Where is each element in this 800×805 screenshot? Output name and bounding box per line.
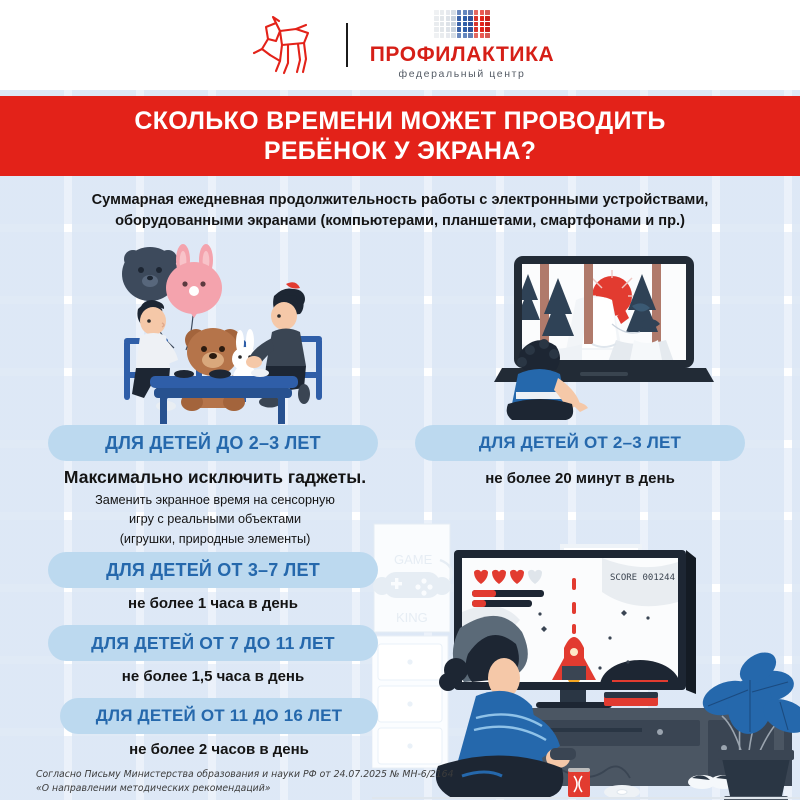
source-footnote: Согласно Письму Министерства образования… (36, 768, 456, 796)
age-banner-from-11-16[interactable]: ДЛЯ ДЕТЕЙ ОТ 11 ДО 16 ЛЕТ (60, 698, 378, 734)
poster-top-label: GAME (394, 552, 433, 567)
brand-pixel-grid-icon (434, 10, 490, 37)
laser-shots (572, 578, 576, 634)
page-title-line2: РЕБЁНОК У ЭКРАНА? (264, 136, 536, 167)
note-sub-line1: Заменить экранное время на сенсорную (20, 492, 410, 510)
age-banner-from-7-11[interactable]: ДЛЯ ДЕТЕЙ ОТ 7 ДО 11 ЛЕТ (48, 625, 378, 661)
age-note-from-11-16: не более 2 часов в день (60, 741, 378, 758)
cd-disc (604, 785, 640, 799)
age-note-from-3-7: не более 1 часа в день (48, 595, 378, 612)
brand-lockup: ПРОФИЛАКТИКА федеральный центр (370, 10, 555, 79)
teen-playing-video-game-illustration: GAME KING (372, 520, 800, 800)
children-playing-at-table-illustration (88, 244, 358, 426)
brand-header: ПРОФИЛАКТИКА федеральный центр (0, 0, 800, 90)
age-note-to-2-3: Максимально исключить гаджеты. Заменить … (20, 466, 410, 548)
subtitle-line1: Суммарная ежедневная продолжительность р… (16, 190, 784, 211)
subtitle-block: Суммарная ежедневная продолжительность р… (0, 190, 800, 232)
age-note-from-7-11: не более 1,5 часа в день (48, 668, 378, 685)
tv-score-label: SCORE 001244 (610, 573, 675, 583)
horse-outline-icon (246, 15, 324, 75)
subtitle-line2: оборудованными экранами (компьютерами, п… (16, 211, 784, 232)
teddy-bear (181, 328, 245, 411)
footnote-line1: Согласно Письму Министерства образования… (36, 768, 456, 782)
controller (550, 748, 576, 760)
age-banner-to-2-3[interactable]: ДЛЯ ДЕТЕЙ ДО 2–3 ЛЕТ (48, 425, 378, 461)
note-sub-line2: игру с реальными объектами (20, 511, 410, 529)
age-banner-from-2-3[interactable]: ДЛЯ ДЕТЕЙ ОТ 2–3 ЛЕТ (415, 425, 745, 461)
logo-divider (346, 23, 348, 67)
poster-bottom-label: KING (396, 610, 428, 625)
footnote-line2: «О направлении методических рекомендаций… (36, 782, 456, 796)
page-title-line1: СКОЛЬКО ВРЕМЕНИ МОЖЕТ ПРОВОДИТЬ (134, 106, 665, 137)
brand-subtitle: федеральный центр (398, 68, 525, 80)
age-banner-from-3-7[interactable]: ДЛЯ ДЕТЕЙ ОТ 3–7 ЛЕТ (48, 552, 378, 588)
note-main-line: Максимально исключить гаджеты. (20, 466, 410, 490)
soda-can (568, 768, 590, 798)
dresser (372, 636, 448, 768)
main-title-band: СКОЛЬКО ВРЕМЕНИ МОЖЕТ ПРОВОДИТЬ РЕБЁНОК … (0, 96, 800, 176)
plant-pot (722, 758, 790, 796)
age-note-from-2-3: не более 20 минут в день (415, 470, 745, 487)
blue-table (150, 369, 298, 424)
child-watching-laptop-illustration (492, 244, 722, 426)
brand-name: ПРОФИЛАКТИКА (370, 43, 555, 67)
note-sub-line3: (игрушки, природные элементы) (20, 531, 410, 549)
